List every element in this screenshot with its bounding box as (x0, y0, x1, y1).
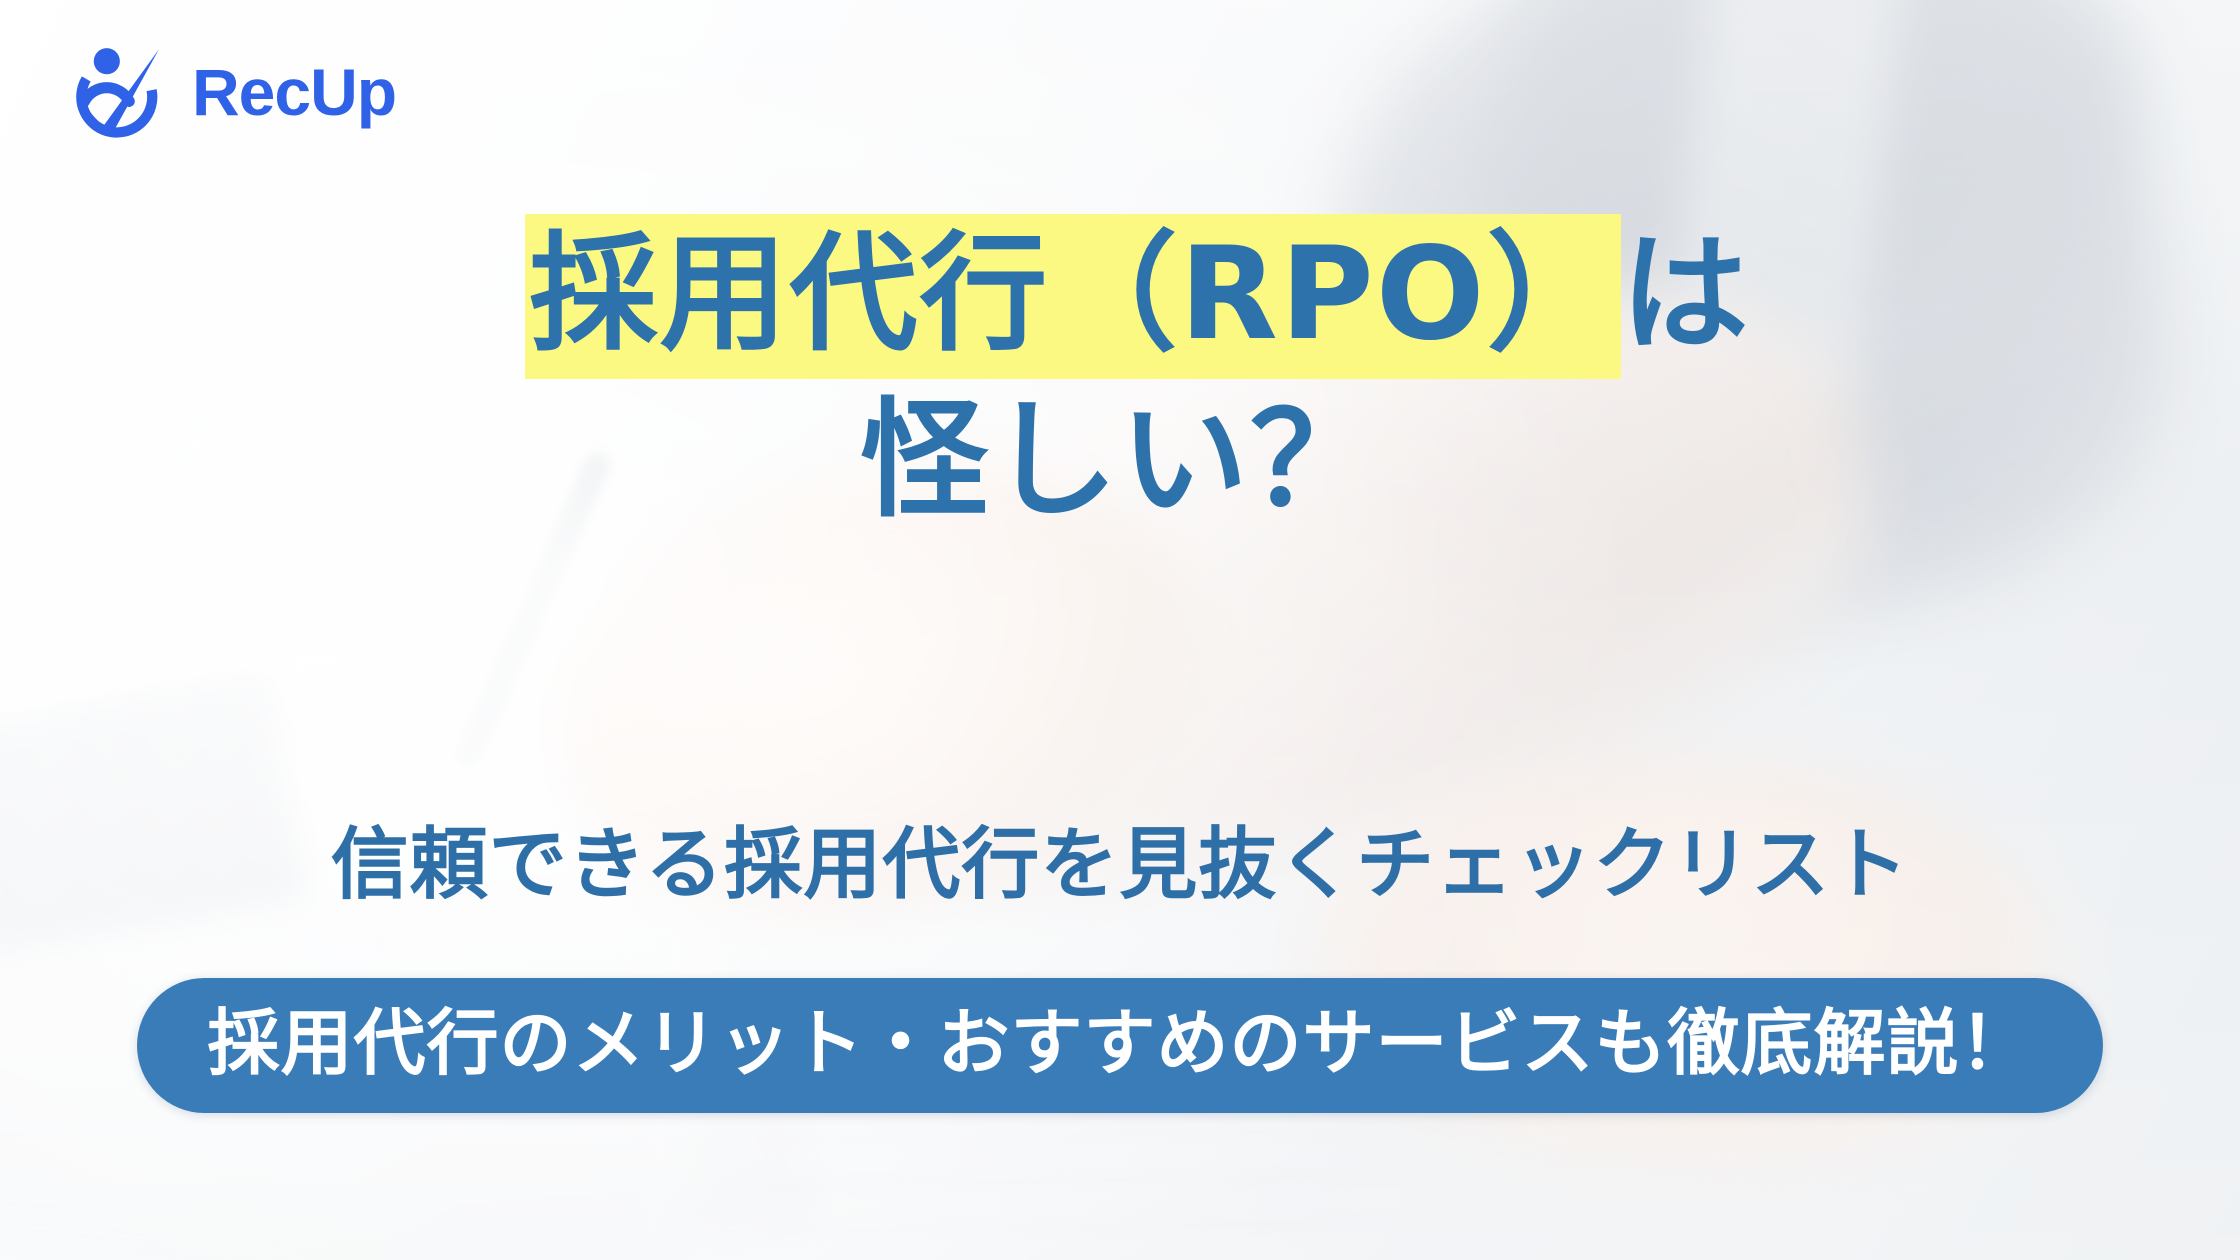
brand-name: RecUp (192, 59, 396, 125)
headline-line-1-tail: は (1621, 220, 1751, 369)
banner-row: 採用代行のメリット・おすすめのサービスも徹底解説！ (0, 978, 2240, 1113)
page-content: RecUp 採用代行（RPO）は 怪しい？ 信頼できる採用代行を見抜くチェックリ… (0, 0, 2240, 1260)
headline-line-1: 採用代行（RPO）は (0, 212, 2240, 378)
headline-highlight: 採用代行（RPO） (525, 214, 1620, 379)
person-check-logo-icon (62, 36, 174, 148)
headline-line-2: 怪しい？ (0, 378, 2240, 544)
highlight-banner: 採用代行のメリット・おすすめのサービスも徹底解説！ (137, 978, 2102, 1113)
banner-text: 採用代行のメリット・おすすめのサービスも徹底解説！ (207, 1001, 2032, 1085)
page-subtitle: 信頼できる採用代行を見抜くチェックリスト (0, 802, 2240, 914)
page-title: 採用代行（RPO）は 怪しい？ (0, 212, 2240, 545)
brand-logo[interactable]: RecUp (62, 36, 396, 148)
